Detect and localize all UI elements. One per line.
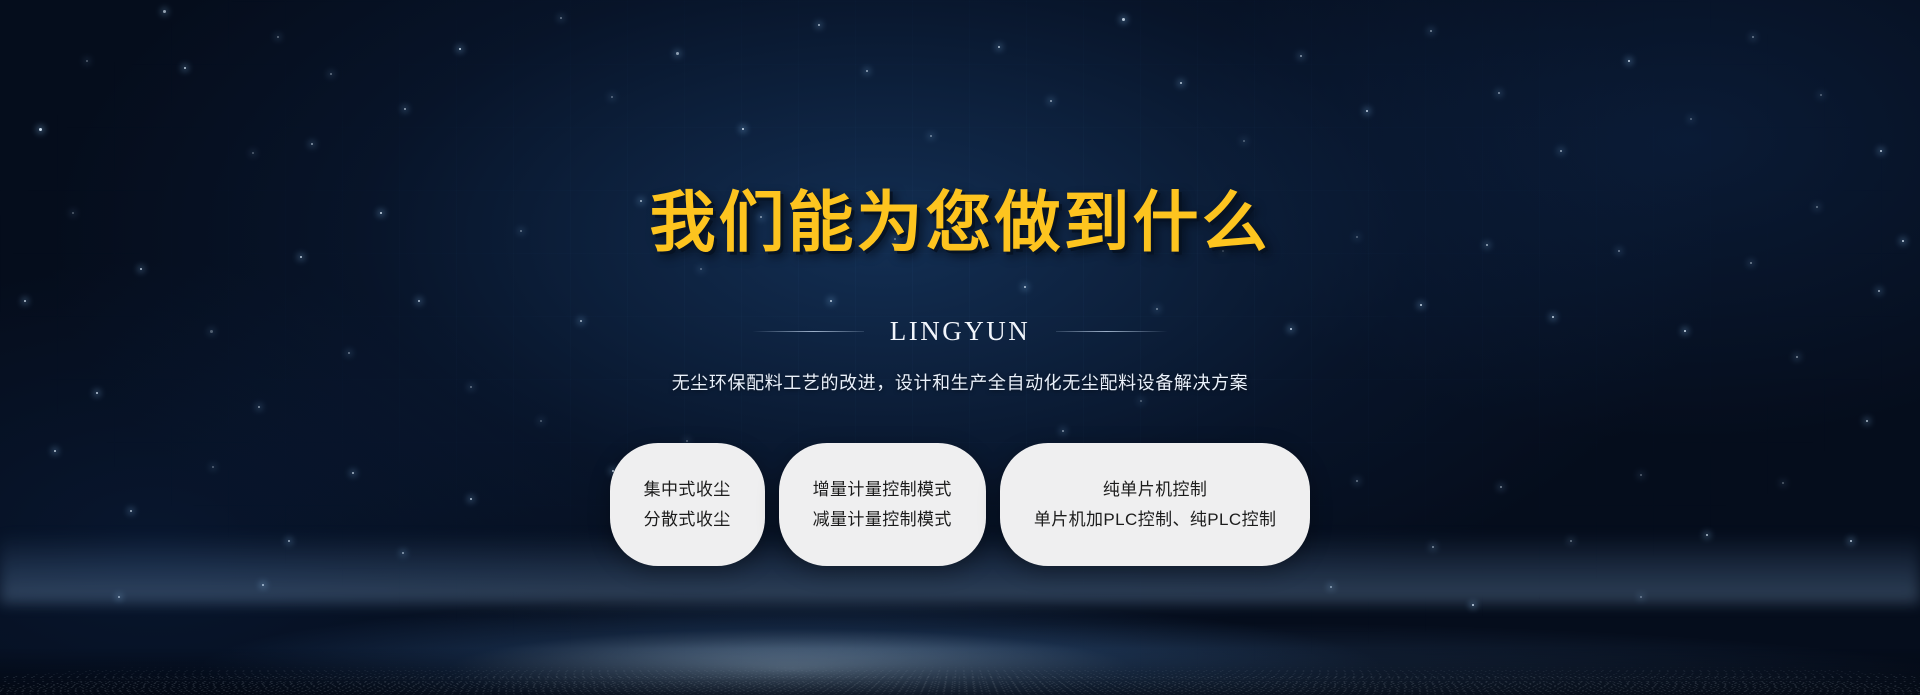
feature-card-line: 纯单片机控制 — [1103, 481, 1207, 498]
decorative-rule-left — [752, 331, 864, 332]
tagline: 无尘环保配料工艺的改进，设计和生产全自动化无尘配料设备解决方案 — [672, 369, 1249, 395]
feature-card-line: 单片机加PLC控制、纯PLC控制 — [1034, 511, 1277, 528]
decorative-rule-right — [1056, 331, 1168, 332]
hero-banner: 我们能为您做到什么 LINGYUN 无尘环保配料工艺的改进，设计和生产全自动化无… — [0, 0, 1920, 695]
feature-card-dust-collection[interactable]: 集中式收尘分散式收尘 — [610, 443, 765, 566]
feature-card-list: 集中式收尘分散式收尘增量计量控制模式减量计量控制模式纯单片机控制单片机加PLC控… — [610, 443, 1311, 566]
brand-name: LINGYUN — [890, 316, 1030, 347]
banner-content: 我们能为您做到什么 LINGYUN 无尘环保配料工艺的改进，设计和生产全自动化无… — [0, 0, 1920, 695]
feature-card-line: 集中式收尘 — [644, 481, 731, 498]
feature-card-line: 减量计量控制模式 — [813, 511, 952, 528]
feature-card-controller-type[interactable]: 纯单片机控制单片机加PLC控制、纯PLC控制 — [1000, 443, 1311, 566]
page-title: 我们能为您做到什么 — [650, 188, 1271, 257]
feature-card-line: 增量计量控制模式 — [813, 481, 952, 498]
brand-subtitle-row: LINGYUN — [752, 316, 1168, 347]
feature-card-line: 分散式收尘 — [644, 511, 731, 528]
feature-card-metering-control-mode[interactable]: 增量计量控制模式减量计量控制模式 — [779, 443, 986, 566]
